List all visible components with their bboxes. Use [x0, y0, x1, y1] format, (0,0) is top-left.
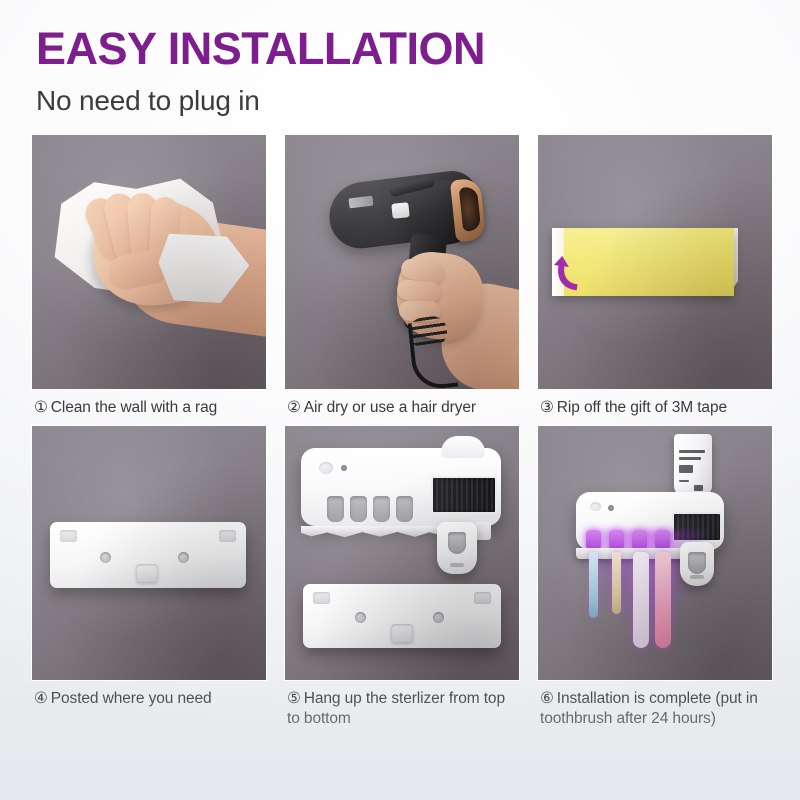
plate-tab-left [60, 530, 77, 542]
step-1-text: Clean the wall with a rag [51, 399, 217, 416]
step-5-text: Hang up the sterlizer from top to bottom [287, 690, 505, 727]
step-4-caption: ④Posted where you need [32, 680, 266, 709]
toothbrush-slot [350, 496, 367, 522]
unit-knob-shape [319, 462, 333, 474]
plate-hole [100, 552, 111, 563]
step-6-caption: ⑥Installation is complete (put in toothb… [538, 680, 772, 729]
plate-tab-right [219, 530, 236, 542]
sterilizer-unit-shape [301, 448, 501, 526]
header: EASY INSTALLATION No need to plug in [36, 24, 756, 118]
toothpaste-tube-shape [674, 434, 712, 496]
step-5-number: ⑤ [287, 690, 301, 707]
dispenser-slot-shape [450, 563, 464, 567]
step-4-number: ④ [34, 690, 48, 707]
step-3-photo-3m-tape [538, 135, 772, 389]
solar-panel-shape [672, 512, 722, 542]
page-subtitle: No need to plug in [36, 84, 756, 118]
plate-hole [433, 612, 444, 623]
toothbrush-slot [373, 496, 390, 522]
toothbrush-slot [396, 496, 413, 522]
step-6-number: ⑥ [540, 690, 554, 707]
toothbrush-shape [612, 552, 621, 614]
unit-knob-shape [590, 502, 601, 511]
dispenser-slot-shape [690, 575, 704, 579]
mounting-plate-shape [50, 522, 246, 588]
dryer-switch-shape [391, 202, 409, 219]
unit-hump-shape [441, 436, 485, 458]
mounting-plate-shape [303, 584, 501, 648]
toothpaste-dispenser-shape [437, 522, 477, 574]
step-5-photo-hang-sterilizer [285, 426, 519, 680]
electric-toothbrush-shape [633, 552, 649, 648]
step-2-text: Air dry or use a hair dryer [304, 399, 476, 416]
step-2-photo-hair-dryer [285, 135, 519, 389]
step-5-caption: ⑤Hang up the sterlizer from top to botto… [285, 680, 519, 729]
unit-bottom-rail-shape [301, 526, 447, 540]
unit-indicator-dot [341, 465, 347, 471]
unit-indicator-dot [608, 505, 614, 511]
installation-infographic: EASY INSTALLATION No need to plug in ①Cl… [0, 0, 800, 800]
dispenser-wing-shape [475, 522, 491, 540]
toothbrush-shape [589, 552, 598, 618]
step-card-1: ①Clean the wall with a rag [32, 135, 266, 418]
step-1-caption: ①Clean the wall with a rag [32, 389, 266, 418]
plate-tab-left [313, 592, 330, 604]
step-card-3: ③Rip off the gift of 3M tape [538, 135, 772, 418]
plate-tab-right [474, 592, 491, 604]
electric-toothbrush-shape [655, 552, 671, 648]
step-3-caption: ③Rip off the gift of 3M tape [538, 389, 772, 418]
step-1-photo-hand-wiping-wall [32, 135, 266, 389]
dryer-cord-shape [408, 319, 459, 389]
step-3-number: ③ [540, 399, 554, 416]
plate-hole [355, 612, 366, 623]
step-4-photo-mounting-plate [32, 426, 266, 680]
step-6-photo-complete [538, 426, 772, 680]
toothbrush-slot [327, 496, 344, 522]
step-2-caption: ②Air dry or use a hair dryer [285, 389, 519, 418]
step-6-text: Installation is complete (put in toothbr… [540, 690, 758, 727]
plate-center-tab [136, 564, 158, 582]
solar-panel-shape [431, 476, 497, 514]
step-4-text: Posted where you need [51, 690, 212, 707]
page-title: EASY INSTALLATION [36, 24, 756, 74]
step-card-5: ⑤Hang up the sterlizer from top to botto… [285, 426, 519, 729]
step-card-4: ④Posted where you need [32, 426, 266, 729]
peel-arrow-icon [554, 253, 588, 291]
step-1-number: ① [34, 399, 48, 416]
step-2-number: ② [287, 399, 301, 416]
dispenser-mouth-shape [688, 552, 706, 574]
dispenser-mouth-shape [448, 532, 466, 554]
step-card-6: ⑥Installation is complete (put in toothb… [538, 426, 772, 729]
toothpaste-dispenser-shape [680, 542, 714, 586]
step-card-2: ②Air dry or use a hair dryer [285, 135, 519, 418]
plate-center-tab [391, 624, 413, 642]
steps-grid: ①Clean the wall with a rag [32, 135, 772, 729]
plate-hole [178, 552, 189, 563]
step-3-text: Rip off the gift of 3M tape [557, 399, 727, 416]
